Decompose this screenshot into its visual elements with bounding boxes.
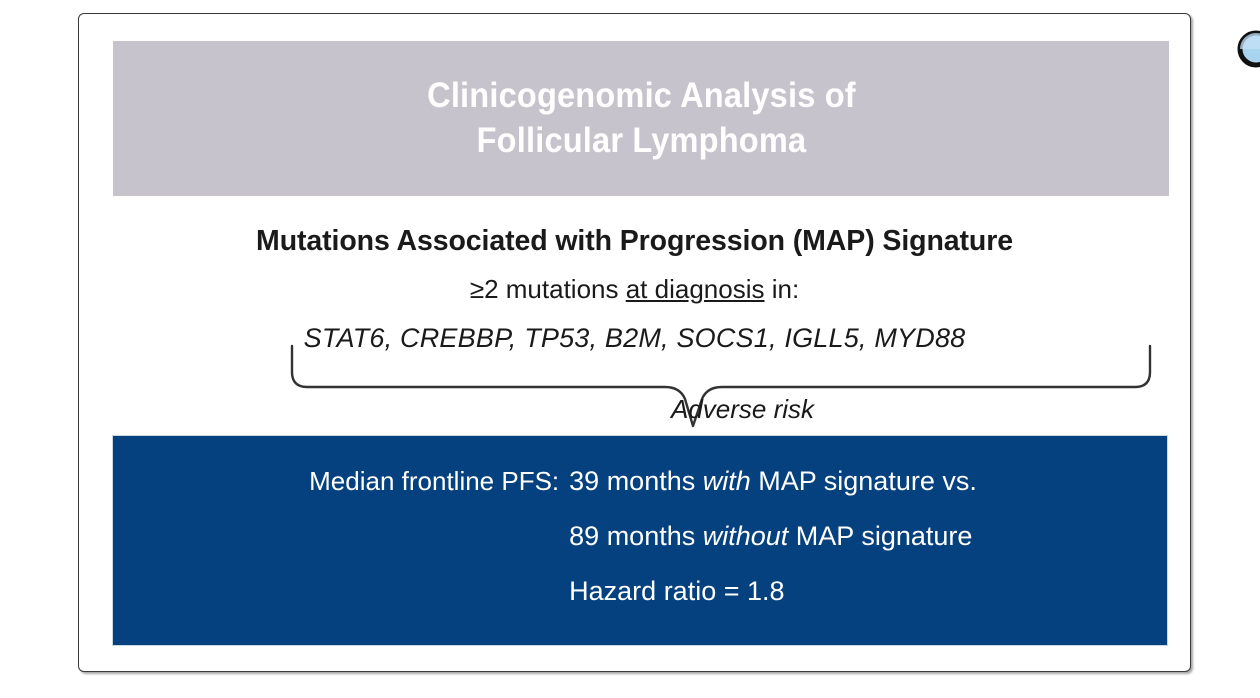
- pfs-label: Median frontline PFS:: [309, 454, 569, 509]
- criteria-underlined-text: at diagnosis: [626, 274, 765, 304]
- title-banner: Clinicogenomic Analysis of Follicular Ly…: [113, 41, 1169, 196]
- outcome-line-1-pre: 39 months: [569, 466, 703, 496]
- outcome-line-2-post: MAP signature: [788, 521, 972, 551]
- criteria-line: ≥2 mutations at diagnosis in:: [79, 274, 1190, 305]
- adverse-risk-label: Adverse risk: [671, 394, 814, 425]
- outcome-line-2-emphasis: without: [703, 521, 789, 551]
- criteria-prefix: ≥2 mutations: [470, 274, 626, 304]
- outcome-line-2-pre: 89 months: [569, 521, 703, 551]
- outcome-line-hazard-ratio: Hazard ratio = 1.8: [569, 564, 977, 619]
- gene-list: STAT6, CREBBP, TP53, B2M, SOCS1, IGLL5, …: [79, 323, 1190, 354]
- outcome-inner: Median frontline PFS: 39 months with MAP…: [113, 436, 1167, 645]
- map-signature-heading: Mutations Associated with Progression (M…: [79, 225, 1190, 258]
- slide-title-line-2: Follicular Lymphoma: [427, 119, 856, 164]
- slide-title: Clinicogenomic Analysis of Follicular Ly…: [427, 74, 856, 164]
- slide-title-line-1: Clinicogenomic Analysis of: [427, 74, 856, 119]
- outcome-line-without-map: 89 months without MAP signature: [569, 509, 977, 564]
- outcome-lines: 39 months with MAP signature vs. 89 mont…: [569, 454, 977, 619]
- criteria-suffix: in:: [764, 274, 799, 304]
- outcome-line-1-emphasis: with: [703, 466, 751, 496]
- magnifier-zoom-cursor-icon[interactable]: [1231, 12, 1260, 74]
- outcome-rows: Median frontline PFS: 39 months with MAP…: [309, 454, 977, 619]
- outcome-line-with-map: 39 months with MAP signature vs.: [569, 454, 977, 509]
- curly-brace-icon: [113, 354, 1169, 439]
- outcome-line-1-post: MAP signature vs.: [751, 466, 977, 496]
- slide-frame: Clinicogenomic Analysis of Follicular Ly…: [78, 13, 1191, 672]
- outcome-box: Median frontline PFS: 39 months with MAP…: [112, 435, 1168, 646]
